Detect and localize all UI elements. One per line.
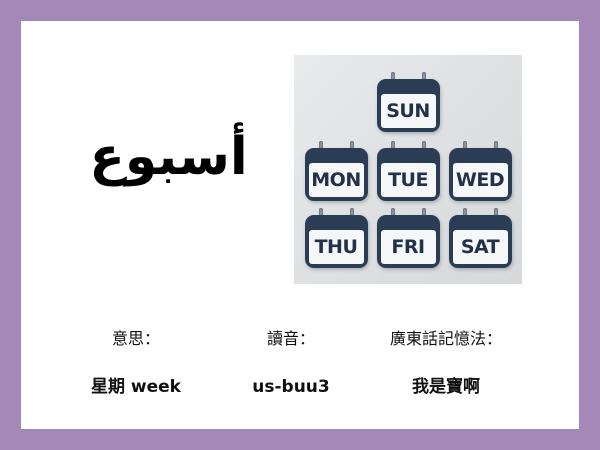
calendar-icon-tue: TUE	[377, 141, 440, 201]
calendar-body: SAT	[449, 215, 512, 268]
calendar-day-label: SUN	[386, 102, 430, 121]
calendar-day-label: MON	[311, 171, 360, 190]
calendar-icon-sat: SAT	[449, 208, 512, 268]
calendar-body: THU	[305, 215, 368, 268]
illustration-panel: SUN MON	[294, 55, 522, 284]
info-header-row: 意思： 讀音： 廣東話記憶法：	[61, 326, 521, 352]
calendar-icon-fri: FRI	[377, 208, 440, 268]
calendar-page: WED	[453, 163, 508, 197]
flashcard-border-frame: أسبوع SUN	[0, 0, 600, 450]
calendar-page: SUN	[381, 94, 436, 128]
calendar-icon-wed: WED	[449, 141, 512, 201]
info-header-meaning: 意思：	[61, 326, 211, 352]
calendar-row-3: THU FRI	[294, 208, 522, 268]
calendar-page: FRI	[381, 230, 436, 264]
calendar-day-label: WED	[456, 171, 504, 190]
calendar-icon-sun: SUN	[377, 72, 440, 132]
calendar-icon-mon: MON	[305, 141, 368, 201]
calendar-body: FRI	[377, 215, 440, 268]
info-header-mnemonic: 廣東話記憶法：	[371, 326, 521, 352]
calendar-row-2: MON TUE	[294, 141, 522, 201]
calendar-page: MON	[309, 163, 364, 197]
calendar-body: SUN	[377, 79, 440, 132]
flashcard-canvas: أسبوع SUN	[21, 21, 579, 429]
calendar-page: SAT	[453, 230, 508, 264]
calendar-icon-thu: THU	[305, 208, 368, 268]
calendar-body: MON	[305, 148, 368, 201]
calendar-day-label: TUE	[388, 171, 428, 190]
calendar-day-label: FRI	[391, 238, 424, 257]
calendar-day-label: SAT	[461, 238, 499, 257]
info-value-row: 星期 week us-buu3 我是寶啊	[61, 374, 521, 400]
calendar-body: TUE	[377, 148, 440, 201]
info-value-reading: us-buu3	[211, 374, 371, 400]
calendar-body: WED	[449, 148, 512, 201]
calendar-page: THU	[309, 230, 364, 264]
info-value-meaning: 星期 week	[61, 374, 211, 400]
info-header-reading: 讀音：	[211, 326, 371, 352]
info-value-mnemonic: 我是寶啊	[371, 374, 521, 400]
calendar-page: TUE	[381, 163, 436, 197]
calendar-day-label: THU	[315, 238, 358, 257]
calendar-row-1: SUN	[294, 72, 522, 132]
headword-arabic: أسبوع	[61, 125, 276, 190]
info-table: 意思： 讀音： 廣東話記憶法： 星期 week us-buu3 我是寶啊	[61, 326, 521, 400]
